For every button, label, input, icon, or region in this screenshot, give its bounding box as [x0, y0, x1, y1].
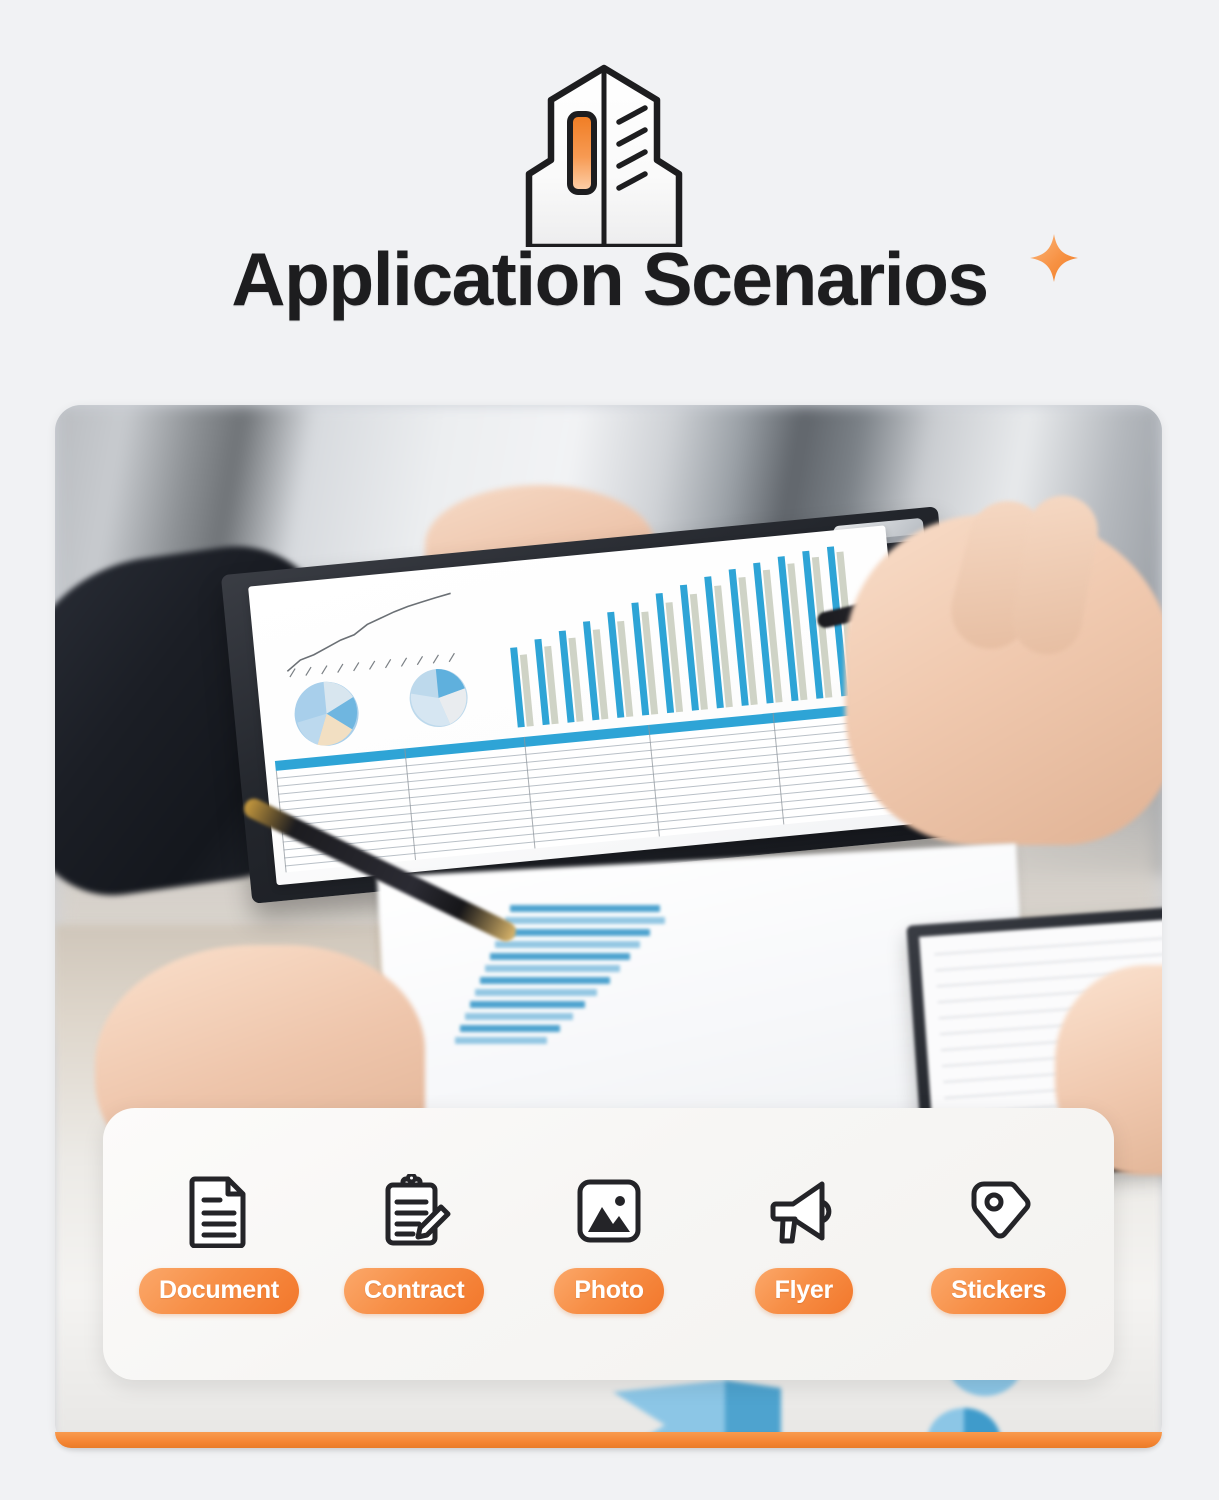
badge-row: Document Contract: [103, 1108, 1114, 1380]
badge-label-stickers[interactable]: Stickers: [931, 1268, 1066, 1314]
document-icon: [182, 1174, 256, 1248]
tag-icon: [962, 1174, 1036, 1248]
badge-photo[interactable]: Photo: [530, 1174, 689, 1314]
clipboard-pen-icon: [377, 1174, 451, 1248]
building-icon: [497, 62, 712, 247]
line-chart-art: [275, 584, 472, 680]
badge-label-contract[interactable]: Contract: [344, 1268, 484, 1314]
photo-bottom-accent-bar: [55, 1432, 1162, 1448]
badge-label-photo[interactable]: Photo: [554, 1268, 663, 1314]
image-icon: [572, 1174, 646, 1248]
sparkle-icon: [1028, 232, 1080, 284]
megaphone-icon: [767, 1174, 841, 1248]
scenario-badge-card: Document Contract: [103, 1108, 1114, 1380]
page-header: Application Scenarios: [0, 0, 1219, 390]
badge-stickers[interactable]: Stickers: [919, 1174, 1078, 1314]
badge-flyer[interactable]: Flyer: [724, 1174, 883, 1314]
badge-label-flyer[interactable]: Flyer: [755, 1268, 853, 1314]
report-paper: [248, 525, 914, 885]
data-table-art: [275, 702, 903, 873]
badge-contract[interactable]: Contract: [335, 1174, 494, 1314]
pie-chart-right: [405, 664, 473, 732]
badge-document[interactable]: Document: [139, 1174, 299, 1314]
badge-label-document[interactable]: Document: [139, 1268, 299, 1314]
pie-chart-left: [290, 677, 364, 751]
bar-chart-art: [503, 543, 881, 727]
